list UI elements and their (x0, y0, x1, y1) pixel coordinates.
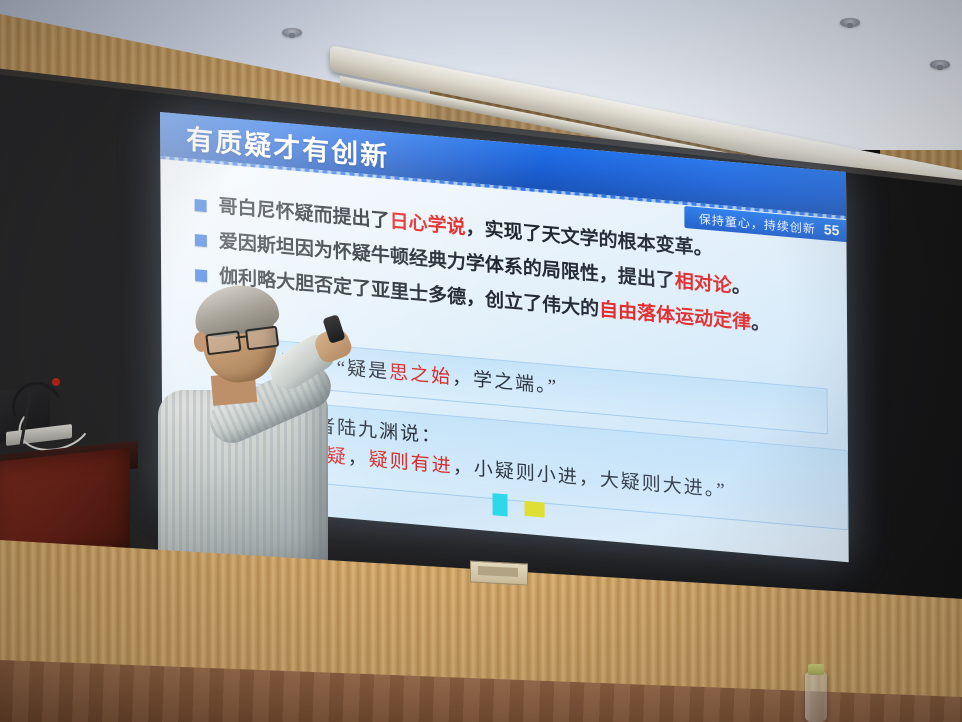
water-bottle (805, 672, 827, 722)
bullet-highlight: 自由落体运动定律 (599, 299, 751, 333)
water-bottle-cap (808, 664, 824, 675)
cyan-square-decoration (492, 493, 507, 516)
bullet-highlight: 相对论 (675, 271, 732, 297)
yellow-square-decoration (524, 501, 544, 518)
bullet-suffix: 。 (751, 312, 770, 335)
bullet-square-icon (195, 199, 207, 212)
bullet-square-icon (195, 269, 207, 282)
bullet-square-icon (195, 234, 207, 247)
microphone-indicator-light (52, 378, 60, 386)
ceiling-sprinkler-icon (840, 18, 860, 27)
quote-highlight-2: 疑则有进 (369, 449, 453, 477)
bullet-suffix: 。 (732, 276, 751, 299)
ceiling-sprinkler-icon (282, 28, 302, 37)
slide-page-number: 55 (824, 221, 840, 238)
quote-highlight: 思之始 (389, 362, 452, 389)
quote-rest: ，学之端。” (452, 368, 558, 398)
ceiling-sprinkler-icon (930, 60, 950, 69)
bullet-prefix: 哥白尼怀疑而提出了 (219, 196, 390, 232)
bullet-highlight: 日心学说 (390, 211, 466, 239)
lecture-hall-photo: 有质疑才有创新 保持童心，持续创新 55 哥白尼怀疑而提出了日心学说，实现了天文… (0, 0, 962, 722)
